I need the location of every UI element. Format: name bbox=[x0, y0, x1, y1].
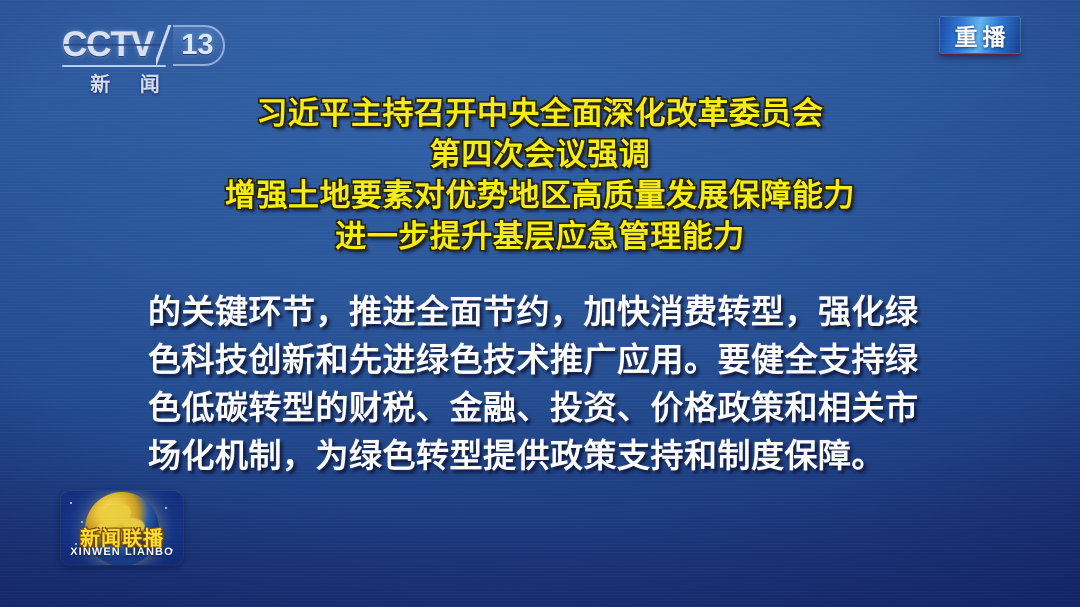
cctv-wordmark-underline bbox=[62, 65, 166, 67]
cctv-13-logo: CCTV 13 新 闻 bbox=[62, 24, 232, 104]
cctv-channel-capsule: 13 bbox=[173, 25, 224, 66]
cctv-slash-icon bbox=[156, 25, 172, 65]
cctv-channel-number: 13 bbox=[181, 29, 213, 62]
headline-line: 习近平主持召开中央全面深化改革委员会 bbox=[0, 93, 1080, 134]
program-title-pinyin: XINWEN LIANBO bbox=[61, 546, 183, 558]
xinwen-lianbo-logo: 新闻联播 XINWEN LIANBO bbox=[61, 491, 183, 565]
body-text-line: 色低碳转型的财税、金融、投资、价格政策和相关市 bbox=[148, 384, 948, 432]
cctv-logo-row: CCTV 13 bbox=[62, 24, 232, 66]
headline-line: 第四次会议强调 bbox=[0, 134, 1080, 175]
body-text-line: 场化机制，为绿色转型提供政策支持和制度保障。 bbox=[148, 432, 948, 480]
body-text-line: 色科技创新和先进绿色技术推广应用。要健全支持绿 bbox=[148, 336, 948, 384]
headline-block: 习近平主持召开中央全面深化改革委员会 第四次会议强调 增强土地要素对优势地区高质… bbox=[0, 93, 1080, 257]
cctv-wordmark-inner-line bbox=[64, 44, 161, 46]
headline-line: 增强土地要素对优势地区高质量发展保障能力 bbox=[0, 175, 1080, 216]
rerun-badge-label: 重播 bbox=[950, 18, 1011, 52]
body-text-block: 的关键环节，推进全面节约，加快消费转型，强化绿 色科技创新和先进绿色技术推广应用… bbox=[148, 288, 948, 480]
headline-line: 进一步提升基层应急管理能力 bbox=[0, 216, 1080, 257]
broadcast-screen: CCTV 13 新 闻 重播 习近平主持召开中央全面深化改革委员会 第四次会议强… bbox=[0, 0, 1080, 607]
rerun-badge: 重播 bbox=[940, 17, 1020, 53]
body-text-line: 的关键环节，推进全面节约，加快消费转型，强化绿 bbox=[148, 288, 948, 336]
